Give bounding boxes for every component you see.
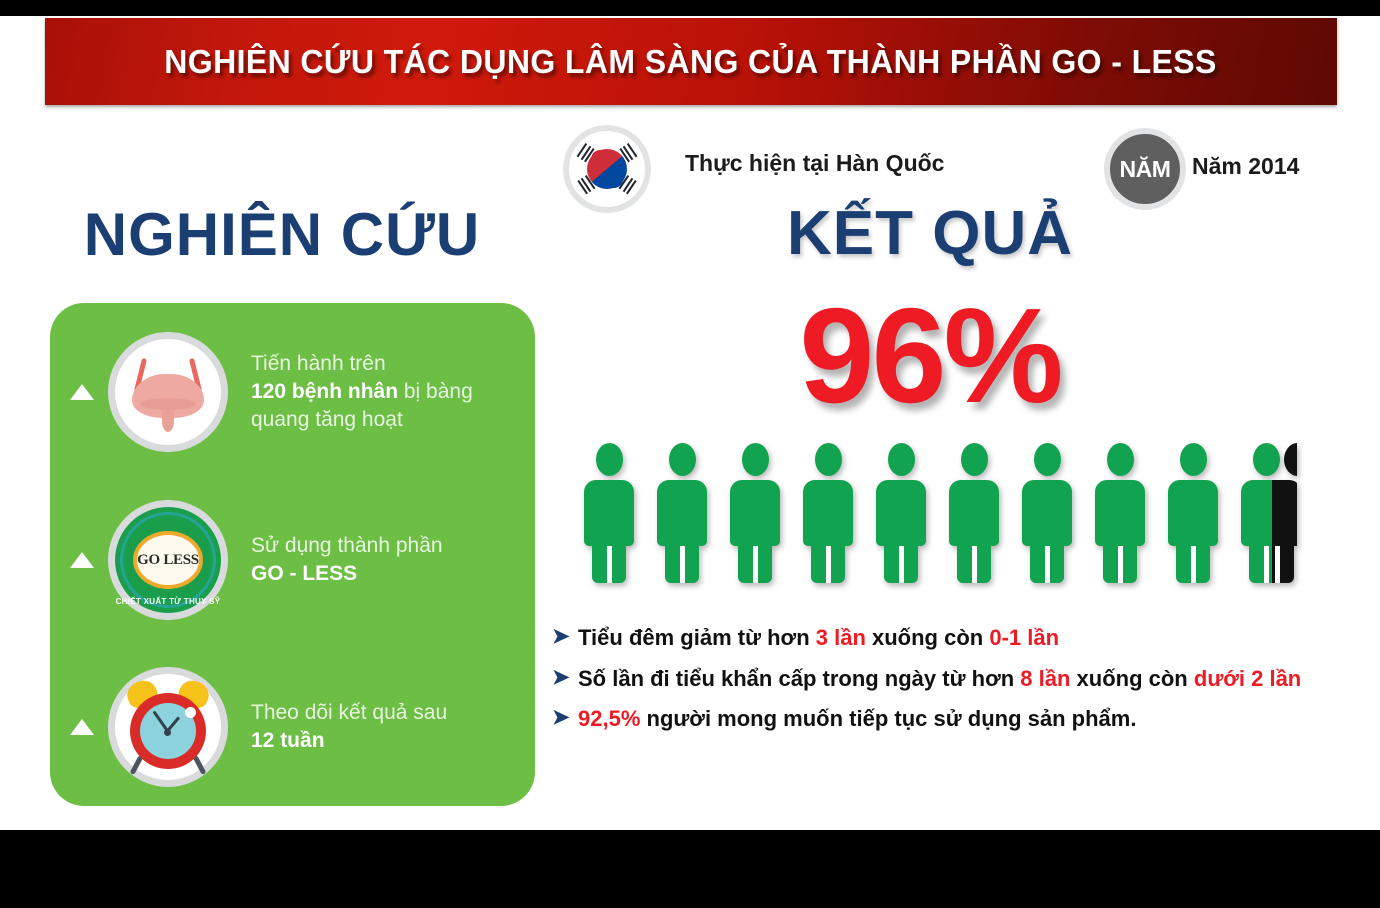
highlight-value: 3 lần	[816, 625, 866, 650]
bullet-text-span: Số lần đi tiểu khẩn cấp trong ngày từ hơ…	[578, 666, 1020, 691]
study-item-line1: Tiến hành trên	[251, 352, 386, 375]
study-item-text: Sử dụng thành phần GO - LESS	[251, 532, 443, 587]
results-bullet-list: ➤Tiểu đêm giảm từ hơn 3 lần xuống còn 0-…	[552, 624, 1342, 746]
study-item-bold: GO - LESS	[251, 562, 357, 585]
korea-flag-icon	[563, 125, 651, 213]
highlight-value: dưới 2 lần	[1194, 666, 1301, 691]
bullet-text-span: Tiểu đêm giảm từ hơn	[578, 625, 816, 650]
chevron-right-icon: ➤	[552, 665, 578, 691]
person-icon-partial	[1235, 443, 1297, 583]
bottom-black-bar	[0, 830, 1380, 908]
left-section-heading: NGHIÊN CỨU	[72, 200, 492, 269]
triangle-marker-icon	[70, 552, 94, 568]
go-less-badge-icon: GO LESS CHIẾT XUẤT TỪ THỤY SỸ	[108, 500, 228, 620]
bladder-icon	[108, 332, 228, 452]
study-item-line1: Sử dụng thành phần	[251, 534, 443, 557]
country-label: Thực hiện tại Hàn Quốc	[685, 150, 944, 177]
bullet-text-span: xuống còn	[866, 625, 989, 650]
result-bullet: ➤Tiểu đêm giảm từ hơn 3 lần xuống còn 0-…	[552, 624, 1342, 653]
top-black-bar	[0, 0, 1380, 16]
person-icon	[797, 443, 859, 583]
study-item-text: Tiến hành trên 120 bệnh nhân bị bàng qua…	[251, 350, 511, 433]
study-item-line1: Theo dõi kết quả sau	[251, 701, 447, 724]
person-icon	[870, 443, 932, 583]
results-heading: KẾT QUẢ	[760, 198, 1100, 269]
year-label: Năm 2014	[1192, 153, 1299, 180]
highlight-value: 8 lần	[1020, 666, 1070, 691]
result-bullet: ➤Số lần đi tiểu khẩn cấp trong ngày từ h…	[552, 665, 1342, 694]
highlight-value: 0-1 lần	[989, 625, 1059, 650]
person-icon	[943, 443, 1005, 583]
alarm-clock-icon	[108, 667, 228, 787]
banner-title: NGHIÊN CỨU TÁC DỤNG LÂM SÀNG CỦA THÀNH P…	[165, 43, 1217, 81]
title-banner: NGHIÊN CỨU TÁC DỤNG LÂM SÀNG CỦA THÀNH P…	[45, 18, 1337, 105]
highlight-value: 92,5%	[578, 706, 640, 731]
people-pictogram	[578, 443, 1318, 583]
result-bullet-text: Tiểu đêm giảm từ hơn 3 lần xuống còn 0-1…	[578, 624, 1059, 653]
bullet-text-span: người mong muốn tiếp tục sử dụng sản phẩ…	[640, 706, 1136, 731]
study-item-duration: Theo dõi kết quả sau 12 tuần	[50, 652, 535, 802]
year-circle-icon: NĂM	[1104, 128, 1186, 210]
triangle-marker-icon	[70, 384, 94, 400]
study-item-bold: 120 bệnh nhân	[251, 380, 398, 403]
triangle-marker-icon	[70, 719, 94, 735]
person-icon	[1016, 443, 1078, 583]
person-icon	[578, 443, 640, 583]
chevron-right-icon: ➤	[552, 705, 578, 731]
result-bullet: ➤92,5% người mong muốn tiếp tục sử dụng …	[552, 705, 1342, 734]
result-bullet-text: 92,5% người mong muốn tiếp tục sử dụng s…	[578, 705, 1136, 734]
person-icon	[1162, 443, 1224, 583]
person-icon	[651, 443, 713, 583]
bullet-text-span: xuống còn	[1070, 666, 1193, 691]
study-item-patients: Tiến hành trên 120 bệnh nhân bị bàng qua…	[50, 317, 535, 467]
study-item-text: Theo dõi kết quả sau 12 tuần	[251, 699, 447, 754]
person-icon	[1089, 443, 1151, 583]
study-item-ingredient: GO LESS CHIẾT XUẤT TỪ THỤY SỸ Sử dụng th…	[50, 485, 535, 635]
badge-arc-bottom: CHIẾT XUẤT TỪ THỤY SỸ	[115, 597, 221, 606]
year-circle-text: NĂM	[1120, 156, 1171, 183]
infographic-root: NGHIÊN CỨU TÁC DỤNG LÂM SÀNG CỦA THÀNH P…	[0, 0, 1380, 908]
person-icon	[724, 443, 786, 583]
study-details-card: Tiến hành trên 120 bệnh nhân bị bàng qua…	[50, 303, 535, 806]
result-bullet-text: Số lần đi tiểu khẩn cấp trong ngày từ hơ…	[578, 665, 1301, 694]
percent-value: 96%	[740, 278, 1120, 433]
chevron-right-icon: ➤	[552, 624, 578, 650]
study-item-bold: 12 tuần	[251, 729, 325, 752]
